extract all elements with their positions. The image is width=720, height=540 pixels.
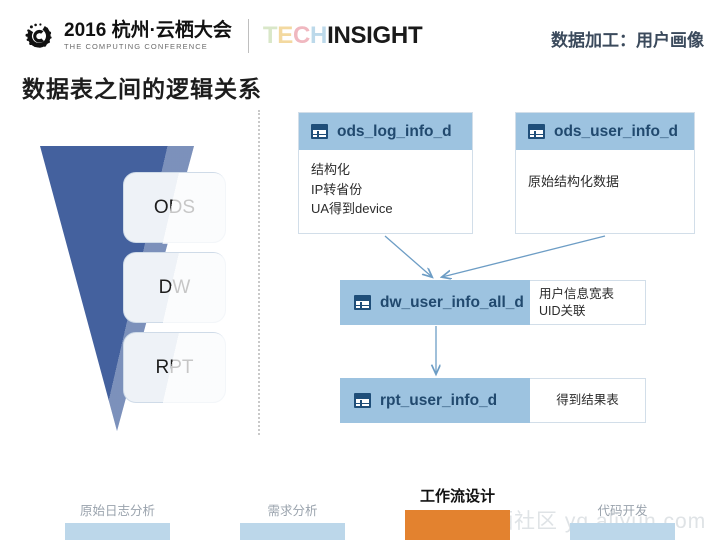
conference-year: 2016	[64, 20, 106, 41]
funnel-stage-label: RPT	[124, 357, 225, 379]
tech-insight-bold-part: INSIGHT	[327, 22, 422, 49]
step-item-workflow-design[interactable]: 工作流设计	[405, 485, 510, 540]
table-card-body: 结构化 IP转省份 UA得到device	[299, 150, 472, 225]
step-label: 需求分析	[240, 500, 345, 519]
conference-circle-logo-icon	[22, 19, 56, 53]
step-item-original-log-analysis[interactable]: 原始日志分析	[65, 500, 170, 540]
section-title: 数据加工：用户画像	[551, 26, 704, 51]
step-item-code-development[interactable]: 代码开发	[570, 500, 675, 540]
table-name: ods_user_info_d	[554, 123, 678, 141]
table-grid-icon	[354, 393, 371, 408]
layer-funnel-diagram: ODS DW RPT	[30, 140, 255, 440]
table-row-dw-user-info-all-d[interactable]: dw_user_info_all_d 用户信息宽表 UID关联	[340, 280, 646, 325]
table-card-ods-user-info-d[interactable]: ods_user_info_d 原始结构化数据	[515, 112, 695, 234]
table-flow-diagram: ods_log_info_d 结构化 IP转省份 UA得到device ods_…	[290, 100, 720, 445]
table-card-header: ods_user_info_d	[516, 113, 694, 150]
table-grid-icon	[528, 124, 545, 139]
card-body-line: IP转省份	[311, 180, 460, 200]
funnel-stage-ods[interactable]: ODS	[123, 172, 226, 243]
table-name: dw_user_info_all_d	[380, 294, 524, 312]
table-name: rpt_user_info_d	[380, 392, 497, 410]
funnel-stage-rpt[interactable]: RPT	[123, 332, 226, 403]
step-bar	[570, 523, 675, 540]
card-body-line: UA得到device	[311, 199, 460, 219]
table-row-main: dw_user_info_all_d	[340, 280, 530, 325]
step-bar	[405, 510, 510, 540]
table-row-note: 用户信息宽表 UID关联	[530, 280, 646, 325]
step-item-requirement-analysis[interactable]: 需求分析	[240, 500, 345, 540]
brand-divider	[248, 19, 249, 53]
table-row-rpt-user-info-d[interactable]: rpt_user_info_d 得到结果表	[340, 378, 646, 423]
tech-insight-logo: TECHINSIGHT	[263, 24, 422, 48]
page-title: 数据表之间的逻辑关系	[22, 70, 262, 104]
note-line: 用户信息宽表	[539, 286, 636, 303]
step-bar	[240, 523, 345, 540]
note-line: UID关联	[539, 303, 636, 320]
table-card-ods-log-info-d[interactable]: ods_log_info_d 结构化 IP转省份 UA得到device	[298, 112, 473, 234]
vertical-dotted-divider	[258, 110, 260, 435]
card-body-line: 原始结构化数据	[528, 172, 682, 192]
conference-name: 杭州·云栖大会	[112, 20, 232, 41]
step-label: 工作流设计	[405, 485, 510, 506]
brand-lockup: 2016 杭州·云栖大会 THE COMPUTING CONFERENCE TE…	[22, 19, 422, 53]
step-label: 代码开发	[570, 500, 675, 519]
table-row-note: 得到结果表	[530, 378, 646, 423]
card-body-line: 结构化	[311, 160, 460, 180]
funnel-stage-label: ODS	[124, 197, 225, 219]
conference-subtitle: THE COMPUTING CONFERENCE	[64, 43, 232, 51]
table-grid-icon	[311, 124, 328, 139]
table-row-main: rpt_user_info_d	[340, 378, 530, 423]
table-grid-icon	[354, 295, 371, 310]
page-header: 2016 杭州·云栖大会 THE COMPUTING CONFERENCE TE…	[0, 0, 720, 66]
step-label: 原始日志分析	[65, 500, 170, 519]
workflow-step-nav: 原始日志分析 需求分析 工作流设计 代码开发	[0, 480, 720, 540]
table-card-body: 原始结构化数据	[516, 150, 694, 198]
conference-title: 2016 杭州·云栖大会	[64, 21, 232, 40]
table-card-header: ods_log_info_d	[299, 113, 472, 150]
table-name: ods_log_info_d	[337, 123, 452, 141]
step-bar	[65, 523, 170, 540]
note-line: 得到结果表	[539, 392, 636, 409]
funnel-stage-dw[interactable]: DW	[123, 252, 226, 323]
conference-wordmark: 2016 杭州·云栖大会 THE COMPUTING CONFERENCE	[64, 21, 232, 51]
funnel-stage-label: DW	[124, 277, 225, 299]
